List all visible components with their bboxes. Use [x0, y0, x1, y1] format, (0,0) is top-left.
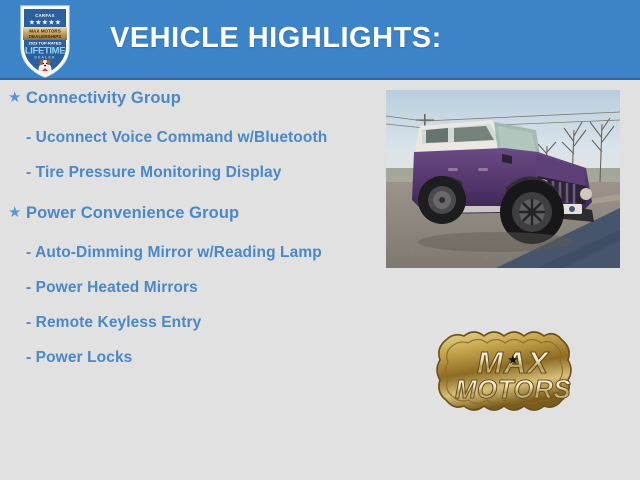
svg-text:MOTORS: MOTORS	[455, 374, 571, 404]
feature-item: - Auto-Dimming Mirror w/Reading Lamp	[0, 243, 356, 263]
star-bullet-icon: ★	[8, 201, 26, 225]
svg-text:DEALERSHIPS: DEALERSHIPS	[29, 34, 62, 39]
feature-item: - Remote Keyless Entry	[0, 313, 356, 333]
vehicle-photo-frame	[386, 90, 620, 268]
spacer	[0, 150, 370, 163]
feature-item: - Power Locks	[0, 348, 356, 368]
svg-text:DEALER: DEALER	[34, 56, 55, 60]
svg-text:LIFETIME: LIFETIME	[25, 45, 65, 56]
star-bullet-icon: ★	[8, 86, 26, 110]
vehicle-photo[interactable]	[386, 90, 620, 268]
spacer	[0, 227, 370, 243]
feature-group-power-convenience: ★ Power Convenience Group	[0, 201, 370, 225]
feature-item: - Power Heated Mirrors	[0, 278, 356, 298]
feature-item: - Uconnect Voice Command w/Bluetooth	[0, 128, 356, 148]
spacer	[0, 265, 370, 278]
spacer	[0, 112, 370, 128]
max-motors-logo: MAX ★ MOTORS	[432, 322, 594, 422]
spacer	[0, 300, 370, 313]
vehicle-highlights-list: ★ Connectivity Group - Uconnect Voice Co…	[0, 86, 370, 480]
page-title: VEHICLE HIGHLIGHTS:	[110, 22, 442, 55]
spacer	[0, 335, 370, 348]
feature-item: - Tire Pressure Monitoring Display	[0, 163, 356, 183]
header-bar: CARFAX ★★★★★ MAX MOTORS DEALERSHIPS 2023…	[0, 0, 640, 80]
feature-group-connectivity: ★ Connectivity Group	[0, 86, 370, 110]
svg-text:MAX MOTORS: MAX MOTORS	[29, 28, 61, 33]
feature-group-label: Connectivity Group	[26, 86, 181, 110]
svg-text:★★★★★: ★★★★★	[29, 19, 61, 27]
svg-text:★: ★	[507, 352, 519, 367]
vehicle-highlights-slide: CARFAX ★★★★★ MAX MOTORS DEALERSHIPS 2023…	[0, 0, 640, 480]
feature-group-label: Power Convenience Group	[26, 201, 239, 225]
spacer	[0, 185, 370, 201]
carfax-top-rated-dealer-badge: CARFAX ★★★★★ MAX MOTORS DEALERSHIPS 2023…	[18, 3, 72, 79]
svg-text:CARFAX: CARFAX	[35, 13, 55, 18]
